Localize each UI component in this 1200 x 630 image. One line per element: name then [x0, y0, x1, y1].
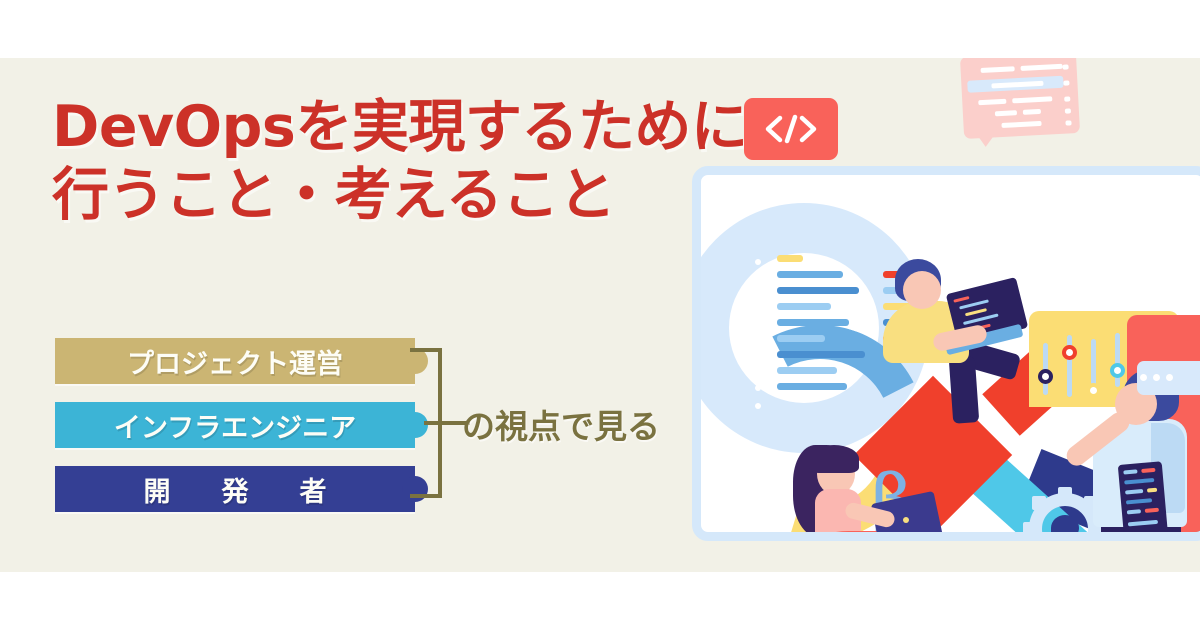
code-line — [777, 383, 847, 390]
devops-illustration: β — [680, 58, 1200, 572]
role-bar-developer: 開 発 者 — [55, 466, 415, 512]
chat-bubble-line — [1020, 64, 1062, 71]
code-line — [777, 271, 843, 278]
illustration-card: β — [692, 166, 1200, 541]
code-line — [777, 255, 803, 262]
code-line — [777, 351, 865, 358]
bracket-stub-bottom — [410, 494, 442, 498]
perspective-subtext: の視点で見る — [462, 400, 660, 448]
chat-bubble-tail — [978, 135, 995, 147]
chat-bubble-dot — [1065, 108, 1071, 113]
chat-bubble-dot — [1064, 96, 1070, 101]
role-label: 開 発 者 — [132, 470, 339, 509]
control-panel-device — [1118, 461, 1168, 532]
role-list: プロジェクト運営 インフラエンジニア 開 発 者 — [55, 338, 415, 512]
chat-bubble-line — [1012, 96, 1052, 103]
slider-track — [1115, 333, 1120, 387]
chat-bubble-dot — [1065, 120, 1071, 125]
chat-bubble-dot — [1062, 64, 1068, 69]
chat-bubble-dot — [1063, 80, 1069, 85]
banner-image: DevOpsを実現するために 行うこと・考えること プロジェクト運営 インフラエ… — [0, 0, 1200, 630]
code-line — [777, 303, 831, 310]
chat-bubble-icon — [960, 58, 1080, 139]
code-line — [777, 335, 825, 342]
slider-knob[interactable] — [1110, 363, 1125, 378]
chat-bubble-line — [978, 99, 1006, 105]
slider-knob[interactable] — [1086, 383, 1101, 398]
role-label: インフラエンジニア — [114, 406, 356, 445]
person-developer-with-laptop — [889, 253, 1039, 413]
code-line — [777, 367, 837, 374]
chat-bubble-line — [1023, 109, 1041, 115]
role-bar-project-management: プロジェクト運営 — [55, 338, 415, 384]
code-line-number-dots — [755, 259, 761, 421]
person-woman-with-laptop — [787, 445, 957, 532]
role-bar-infrastructure-engineer: インフラエンジニア — [55, 402, 415, 448]
chat-bubble-line — [1001, 121, 1041, 128]
chat-bubble-line — [995, 110, 1017, 116]
chat-bubble-line — [981, 66, 1015, 73]
slider-knob[interactable] — [1038, 369, 1053, 384]
code-line — [777, 287, 859, 294]
slider-knob[interactable] — [1062, 345, 1077, 360]
chat-bubble-dots-icon — [1137, 361, 1200, 395]
role-label: プロジェクト運営 — [127, 342, 343, 381]
person-ops-engineer — [1075, 325, 1200, 532]
code-badge-icon — [744, 98, 838, 160]
code-line — [777, 319, 849, 326]
bracket-stub-top — [410, 348, 442, 352]
